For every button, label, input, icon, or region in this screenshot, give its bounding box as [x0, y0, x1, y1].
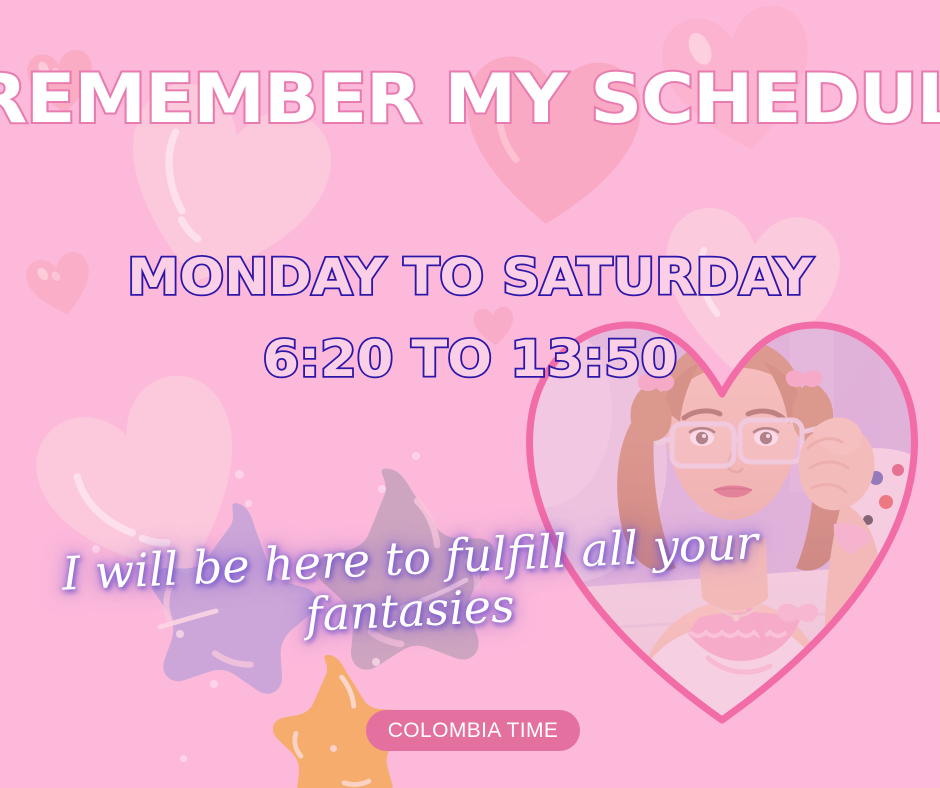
schedule-hours: 6:20 TO 13:50 — [0, 334, 940, 384]
schedule-days: MONDAY TO SATURDAY — [0, 252, 940, 302]
poster-title: REMEMBER MY SCHEDULE — [0, 66, 940, 134]
decorative-dot — [235, 470, 244, 479]
decorative-dot — [372, 658, 380, 666]
decorative-dot — [378, 485, 386, 493]
decorative-dot — [412, 452, 420, 460]
schedule-poster: REMEMBER MY SCHEDULE MONDAY TO SATURDAY … — [0, 0, 940, 788]
decorative-dot — [245, 500, 252, 507]
timezone-badge: COLOMBIA TIME — [366, 710, 580, 751]
decorative-dot — [180, 755, 187, 762]
decorative-dot — [330, 745, 337, 752]
timezone-badge-label: COLOMBIA TIME — [388, 720, 559, 741]
decorative-dot — [210, 680, 218, 688]
